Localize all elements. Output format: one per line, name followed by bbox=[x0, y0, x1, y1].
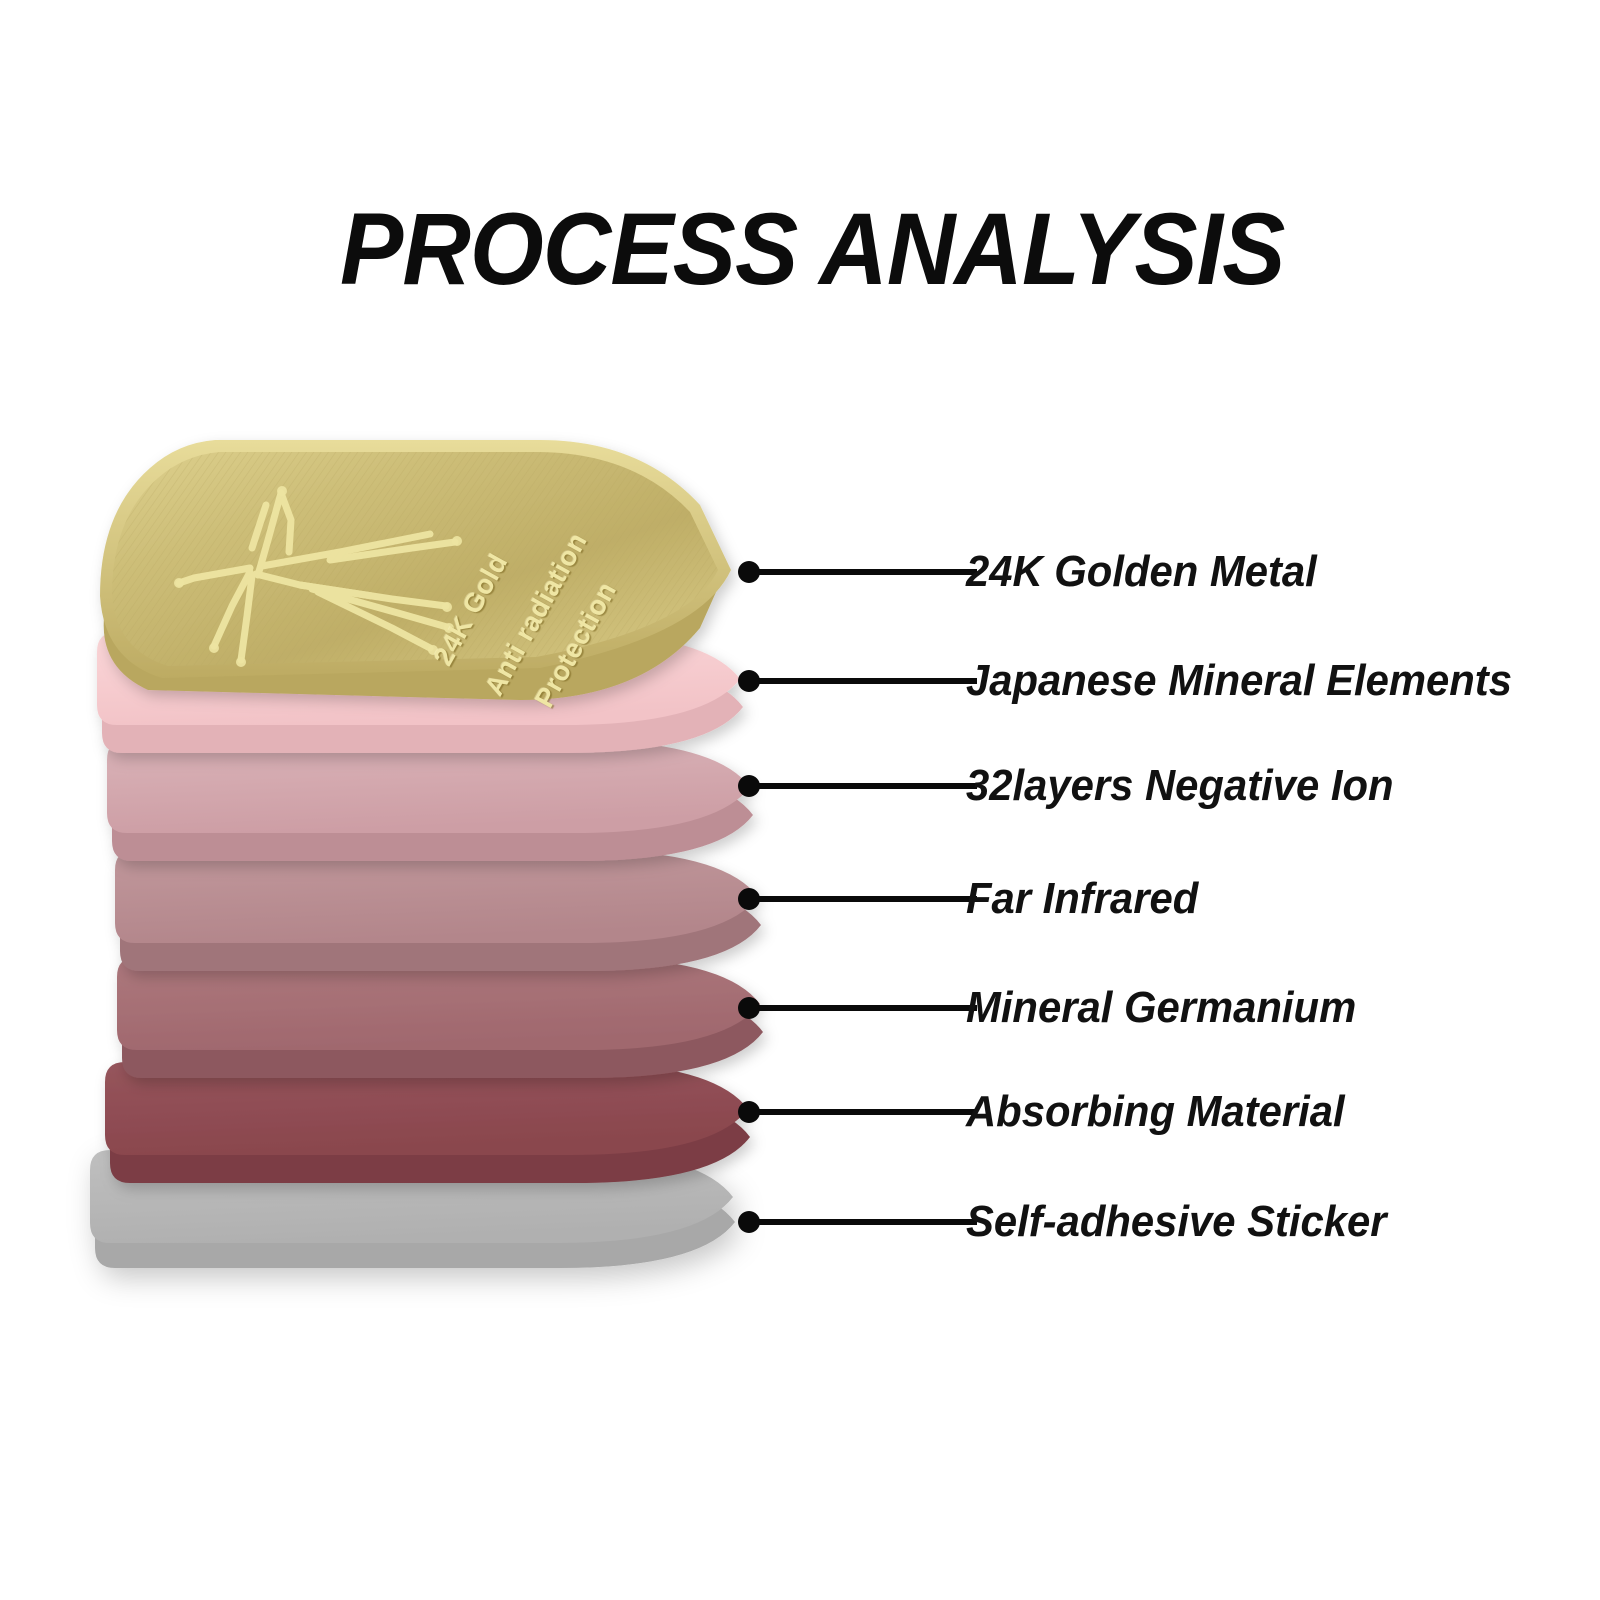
layer-24k-golden-metal bbox=[100, 440, 731, 700]
callout-label: 32layers Negative Ion bbox=[966, 756, 1394, 816]
layer-far-infrared bbox=[115, 850, 761, 971]
callout-leader-line bbox=[749, 569, 977, 575]
callout-label: Self-adhesive Sticker bbox=[966, 1192, 1387, 1252]
callout-label: Mineral Germanium bbox=[966, 978, 1356, 1038]
layer-32layers-negative-ion bbox=[107, 740, 753, 861]
callout-label: 24K Golden Metal bbox=[966, 542, 1317, 602]
callout-leader-line bbox=[749, 783, 977, 789]
layer-mineral-germanium bbox=[117, 957, 763, 1078]
callout-leader-line bbox=[749, 1109, 977, 1115]
callout-label: Far Infrared bbox=[966, 869, 1198, 929]
layer-stack-diagram: 24K Gold Anti radiation Protection bbox=[0, 0, 800, 1450]
callout-leader-line bbox=[749, 896, 977, 902]
callout-label: Absorbing Material bbox=[966, 1082, 1345, 1142]
callout-leader-line bbox=[749, 1005, 977, 1011]
callout-leader-line bbox=[749, 1219, 977, 1225]
callout-leader-line bbox=[749, 678, 977, 684]
layer-absorbing-material bbox=[105, 1062, 750, 1183]
callout-label: Japanese Mineral Elements bbox=[966, 651, 1512, 711]
